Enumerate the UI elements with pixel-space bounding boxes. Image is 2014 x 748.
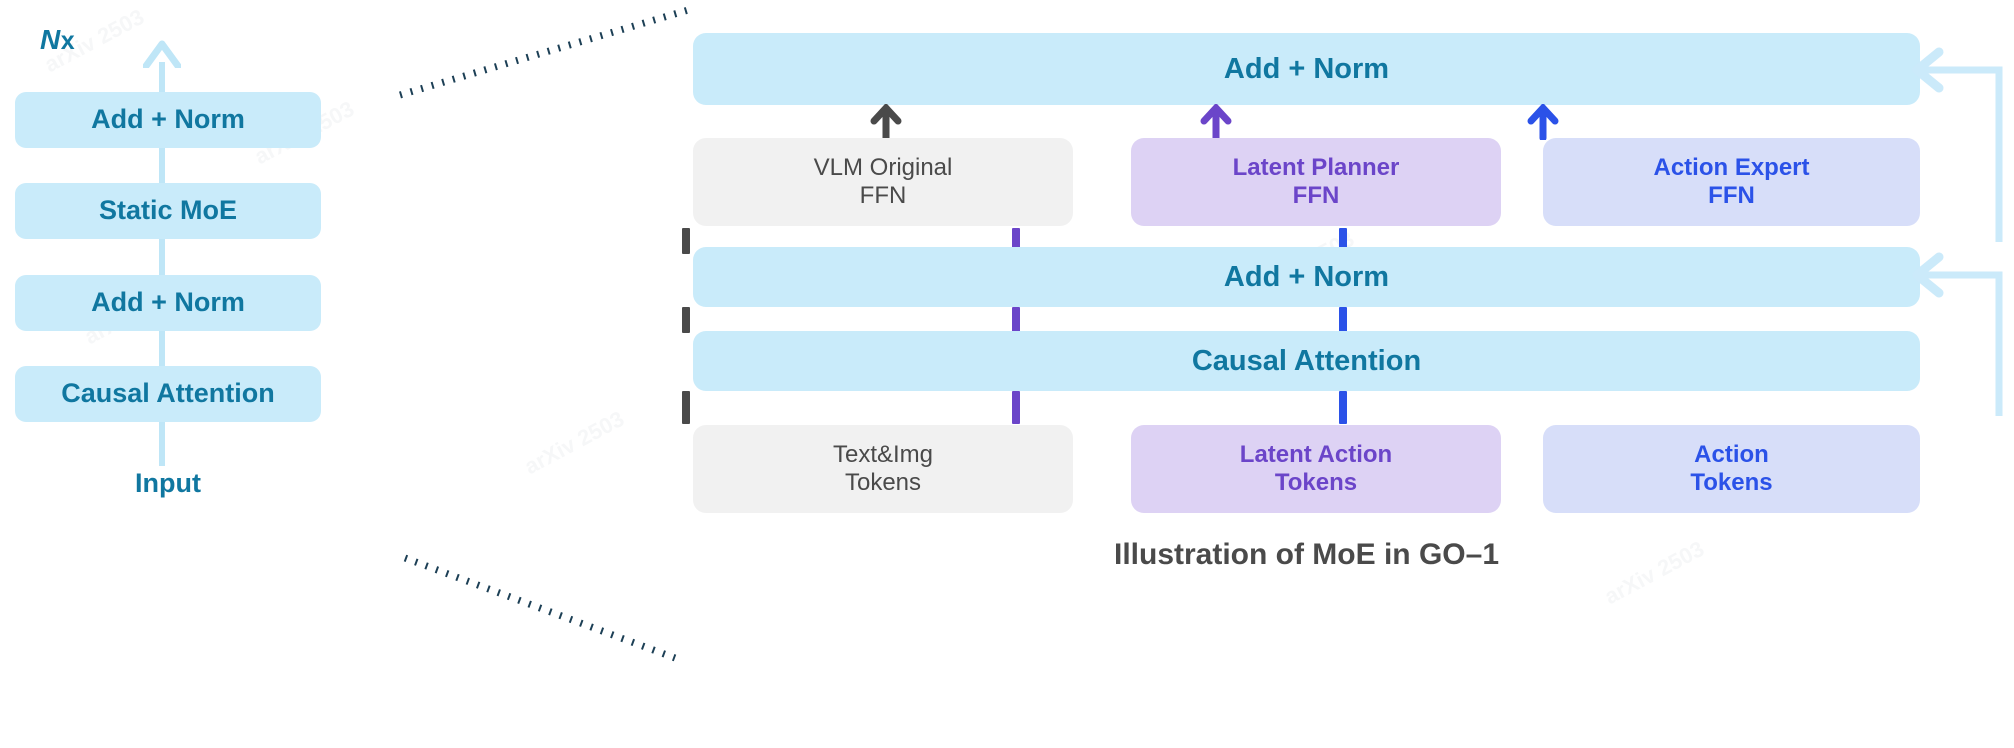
dotted-connector-bottom bbox=[390, 540, 720, 670]
arrow-up-action-expert-icon bbox=[1523, 104, 1563, 140]
residual-connection-upper bbox=[1895, 40, 2014, 250]
left-block-label: Add + Norm bbox=[91, 287, 245, 319]
connector-tokens-to-attn-planner bbox=[1012, 391, 1020, 424]
left-block-label: Static MoE bbox=[99, 195, 237, 227]
expert-action-expert-ffn[interactable]: Action Expert FFN bbox=[1543, 138, 1920, 226]
repeat-count-x: x bbox=[61, 27, 75, 55]
figure-caption: Illustration of MoE in GO–1 bbox=[693, 538, 1920, 572]
right-add-norm-top[interactable]: Add + Norm bbox=[693, 33, 1920, 105]
connector-addnorm-to-attn-vlm bbox=[682, 307, 690, 333]
expert-vlm-original-ffn[interactable]: VLM Original FFN bbox=[693, 138, 1073, 226]
input-label: Input bbox=[15, 468, 321, 499]
tokens-label: Action Tokens bbox=[1690, 441, 1772, 498]
right-causal-attention[interactable]: Causal Attention bbox=[693, 331, 1920, 391]
left-block-causal-attention[interactable]: Causal Attention bbox=[15, 366, 321, 422]
expert-latent-planner-ffn[interactable]: Latent Planner FFN bbox=[1131, 138, 1501, 226]
right-add-norm-mid[interactable]: Add + Norm bbox=[693, 247, 1920, 307]
arrow-up-vlm-icon bbox=[866, 104, 906, 140]
diagram-canvas: arXiv 2503 arXiv 2503 arXiv 2503 arXiv 2… bbox=[0, 0, 2014, 748]
tokens-action[interactable]: Action Tokens bbox=[1543, 425, 1920, 513]
connector-tokens-to-attn-vlm bbox=[682, 391, 690, 424]
tokens-label: Latent Action Tokens bbox=[1240, 441, 1392, 498]
left-block-static-moe[interactable]: Static MoE bbox=[15, 183, 321, 239]
right-add-norm-mid-label: Add + Norm bbox=[1224, 260, 1389, 294]
expert-label: Latent Planner FFN bbox=[1233, 154, 1400, 211]
right-causal-attention-label: Causal Attention bbox=[1192, 344, 1421, 378]
up-arrow-icon bbox=[143, 38, 181, 68]
dotted-connector-top bbox=[390, 0, 710, 110]
residual-connection-lower bbox=[1895, 248, 2014, 428]
right-add-norm-top-label: Add + Norm bbox=[1224, 52, 1389, 86]
connector-addnorm-to-attn-planner bbox=[1012, 307, 1020, 333]
tokens-text-img[interactable]: Text&Img Tokens bbox=[693, 425, 1073, 513]
connector-addnorm-to-attn-action bbox=[1339, 307, 1347, 333]
repeat-count-n: N bbox=[40, 24, 61, 55]
expert-label: Action Expert FFN bbox=[1653, 154, 1809, 211]
repeat-count-label: Nx bbox=[40, 24, 75, 56]
left-block-label: Causal Attention bbox=[61, 378, 275, 410]
expert-label: VLM Original FFN bbox=[814, 154, 953, 211]
left-block-add-norm-bottom[interactable]: Add + Norm bbox=[15, 275, 321, 331]
connector-vlm-ffn-to-addnorm bbox=[682, 228, 690, 254]
tokens-label: Text&Img Tokens bbox=[833, 441, 933, 498]
arrow-up-latent-planner-icon bbox=[1196, 104, 1236, 140]
left-block-label: Add + Norm bbox=[91, 104, 245, 136]
tokens-latent-action[interactable]: Latent Action Tokens bbox=[1131, 425, 1501, 513]
watermark: arXiv 2503 bbox=[520, 406, 628, 480]
connector-tokens-to-attn-action bbox=[1339, 391, 1347, 424]
left-block-add-norm-top[interactable]: Add + Norm bbox=[15, 92, 321, 148]
